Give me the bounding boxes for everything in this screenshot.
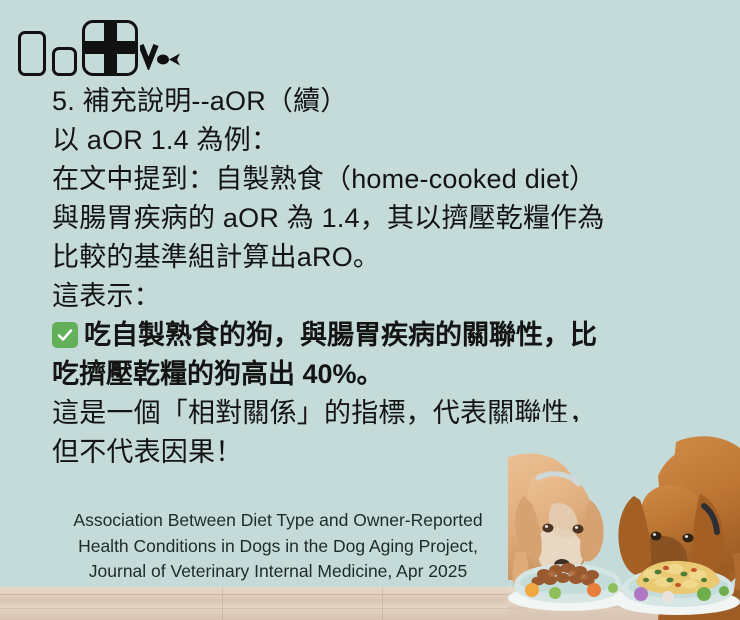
text-line-highlight: 吃擠壓乾糧的狗高出 40%。 <box>52 355 712 394</box>
dogs-eating-photo <box>508 422 740 620</box>
vo-clinic-logo <box>18 20 178 76</box>
logo-bar-tall-icon <box>18 31 46 76</box>
logo-wordmark-vo-icon <box>140 42 182 70</box>
logo-cross-horizontal-icon <box>82 41 138 54</box>
text-line: 這表示： <box>52 277 712 316</box>
citation-line-3: Journal of Veterinary Internal Medicine,… <box>0 559 556 585</box>
text-line: 比較的基準組計算出aRO。 <box>52 238 712 277</box>
text-line: 在文中提到：自製熟食（home-cooked diet） <box>52 160 712 199</box>
check-mark-icon <box>52 322 78 348</box>
text-line: 與腸胃疾病的 aOR 為 1.4，其以擠壓乾糧作為 <box>52 199 712 238</box>
citation-block: Association Between Diet Type and Owner-… <box>0 508 556 585</box>
slide: 5. 補充說明--aOR（續） 以 aOR 1.4 為例： 在文中提到：自製熟食… <box>0 0 740 620</box>
text-line: 5. 補充說明--aOR（續） <box>52 82 712 121</box>
text-line-highlight: 吃自製熟食的狗，與腸胃疾病的關聯性，比 <box>52 316 712 355</box>
body-text-block: 5. 補充說明--aOR（續） 以 aOR 1.4 為例： 在文中提到：自製熟食… <box>52 82 712 472</box>
citation-line-2: Health Conditions in Dogs in the Dog Agi… <box>0 534 556 560</box>
text-line-highlight-label: 吃自製熟食的狗，與腸胃疾病的關聯性，比 <box>84 320 597 350</box>
logo-bar-short-icon <box>52 47 77 76</box>
citation-line-1: Association Between Diet Type and Owner-… <box>0 508 556 534</box>
text-line: 以 aOR 1.4 為例： <box>52 121 712 160</box>
